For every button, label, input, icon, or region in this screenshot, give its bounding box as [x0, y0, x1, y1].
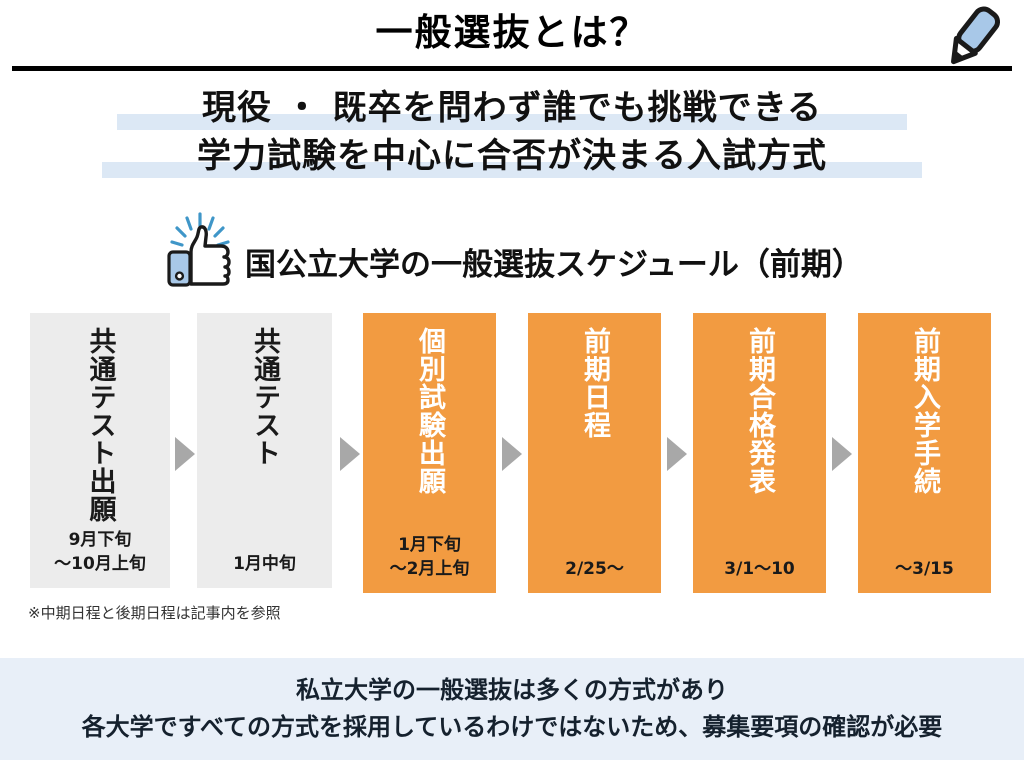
timeline-arrow-icon-1 — [175, 437, 195, 471]
timeline-step-date: 2/25〜 — [565, 557, 624, 583]
timeline-step-label: 前期日程 — [579, 327, 610, 537]
timeline-step-4: 前期日程2/25〜 — [528, 313, 661, 593]
headline-line-2: 学力試験を中心に合否が決まる入試方式 — [0, 132, 1024, 180]
timeline-arrow-icon-4 — [667, 437, 687, 471]
timeline-step-date: 〜3/15 — [895, 557, 954, 583]
timeline-step-label: 共通テスト — [249, 327, 280, 537]
bottom-banner: 私立大学の一般選抜は多くの方式があり 各大学ですべての方式を採用しているわけでは… — [0, 658, 1024, 760]
timeline-step-label: 前期合格発表 — [744, 327, 775, 537]
timeline-step-5: 前期合格発表3/1〜10 — [693, 313, 826, 593]
schedule-timeline: 共通テスト出願9月下旬 〜10月上旬共通テスト1月中旬個別試験出願1月下旬 〜2… — [0, 313, 1024, 595]
timeline-step-label: 前期入学手続 — [909, 327, 940, 537]
banner-line-1: 私立大学の一般選抜は多くの方式があり — [296, 672, 728, 709]
footnote: ※中期日程と後期日程は記事内を参照 — [28, 602, 281, 623]
headline-block: 現役 ・ 既卒を問わず誰でも挑戦できる 学力試験を中心に合否が決まる入試方式 — [0, 84, 1024, 180]
timeline-step-2: 共通テスト1月中旬 — [197, 313, 332, 588]
timeline-step-date: 1月下旬 〜2月上旬 — [390, 533, 470, 583]
timeline-step-date: 3/1〜10 — [724, 557, 795, 583]
timeline-step-1: 共通テスト出願9月下旬 〜10月上旬 — [30, 313, 170, 588]
page-title: 一般選抜とは？ — [0, 8, 1024, 58]
timeline-step-label: 共通テスト出願 — [85, 327, 116, 528]
banner-line-2: 各大学ですべての方式を採用しているわけではないため、募集要項の確認が必要 — [82, 709, 943, 746]
pencil-icon — [932, 2, 1010, 74]
timeline-step-6: 前期入学手続〜3/15 — [858, 313, 991, 593]
timeline-step-label: 個別試験出願 — [414, 327, 445, 533]
timeline-step-date: 1月中旬 — [233, 552, 296, 578]
timeline-arrow-icon-2 — [340, 437, 360, 471]
timeline-step-3: 個別試験出願1月下旬 〜2月上旬 — [363, 313, 496, 593]
timeline-arrow-icon-3 — [502, 437, 522, 471]
header: 一般選抜とは？ — [0, 0, 1024, 78]
timeline-step-date: 9月下旬 〜10月上旬 — [54, 528, 146, 578]
schedule-subtitle-text: 国公立大学の一般選抜スケジュール（前期） — [237, 239, 863, 290]
title-divider — [12, 66, 1012, 71]
schedule-subtitle: 国公立大学の一般選抜スケジュール（前期） — [165, 210, 863, 290]
headline-text-2: 学力試験を中心に合否が決まる入試方式 — [191, 132, 833, 180]
thumbs-up-icon — [165, 212, 237, 290]
timeline-arrow-icon-5 — [832, 437, 852, 471]
headline-line-1: 現役 ・ 既卒を問わず誰でも挑戦できる — [0, 84, 1024, 132]
headline-text-1: 現役 ・ 既卒を問わず誰でも挑戦できる — [196, 84, 828, 132]
